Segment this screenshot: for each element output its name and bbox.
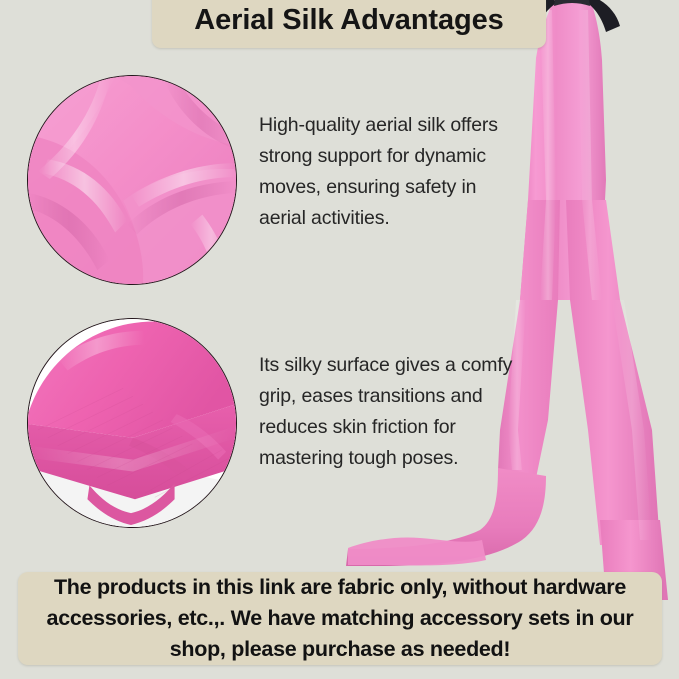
page-title: Aerial Silk Advantages (152, 0, 546, 42)
silk-pooled-section (346, 468, 546, 566)
product-infographic: Aerial Silk Advantages (0, 0, 679, 679)
silk-highlight-2 (578, 10, 602, 300)
feature-photo-draped-silk (27, 75, 237, 285)
silk-highlight-4 (612, 300, 652, 540)
feature-text-comfort: Its silky surface gives a comfy grip, ea… (259, 350, 514, 474)
draped-silk-artwork (28, 76, 236, 284)
folded-silk-artwork (28, 319, 236, 527)
rigging-hardware-right-icon (584, 0, 620, 32)
silk-floor-ripples (348, 537, 486, 565)
rigging-hardware-center-icon (554, 0, 590, 6)
silk-highlight-1 (540, 10, 556, 300)
silk-right-tail (566, 200, 660, 545)
feature-text-quality: High-quality aerial silk offers strong s… (259, 110, 521, 234)
footer-disclaimer-text: The products in this link are fabric onl… (18, 574, 662, 663)
feature-photo-folded-silk (27, 318, 237, 528)
